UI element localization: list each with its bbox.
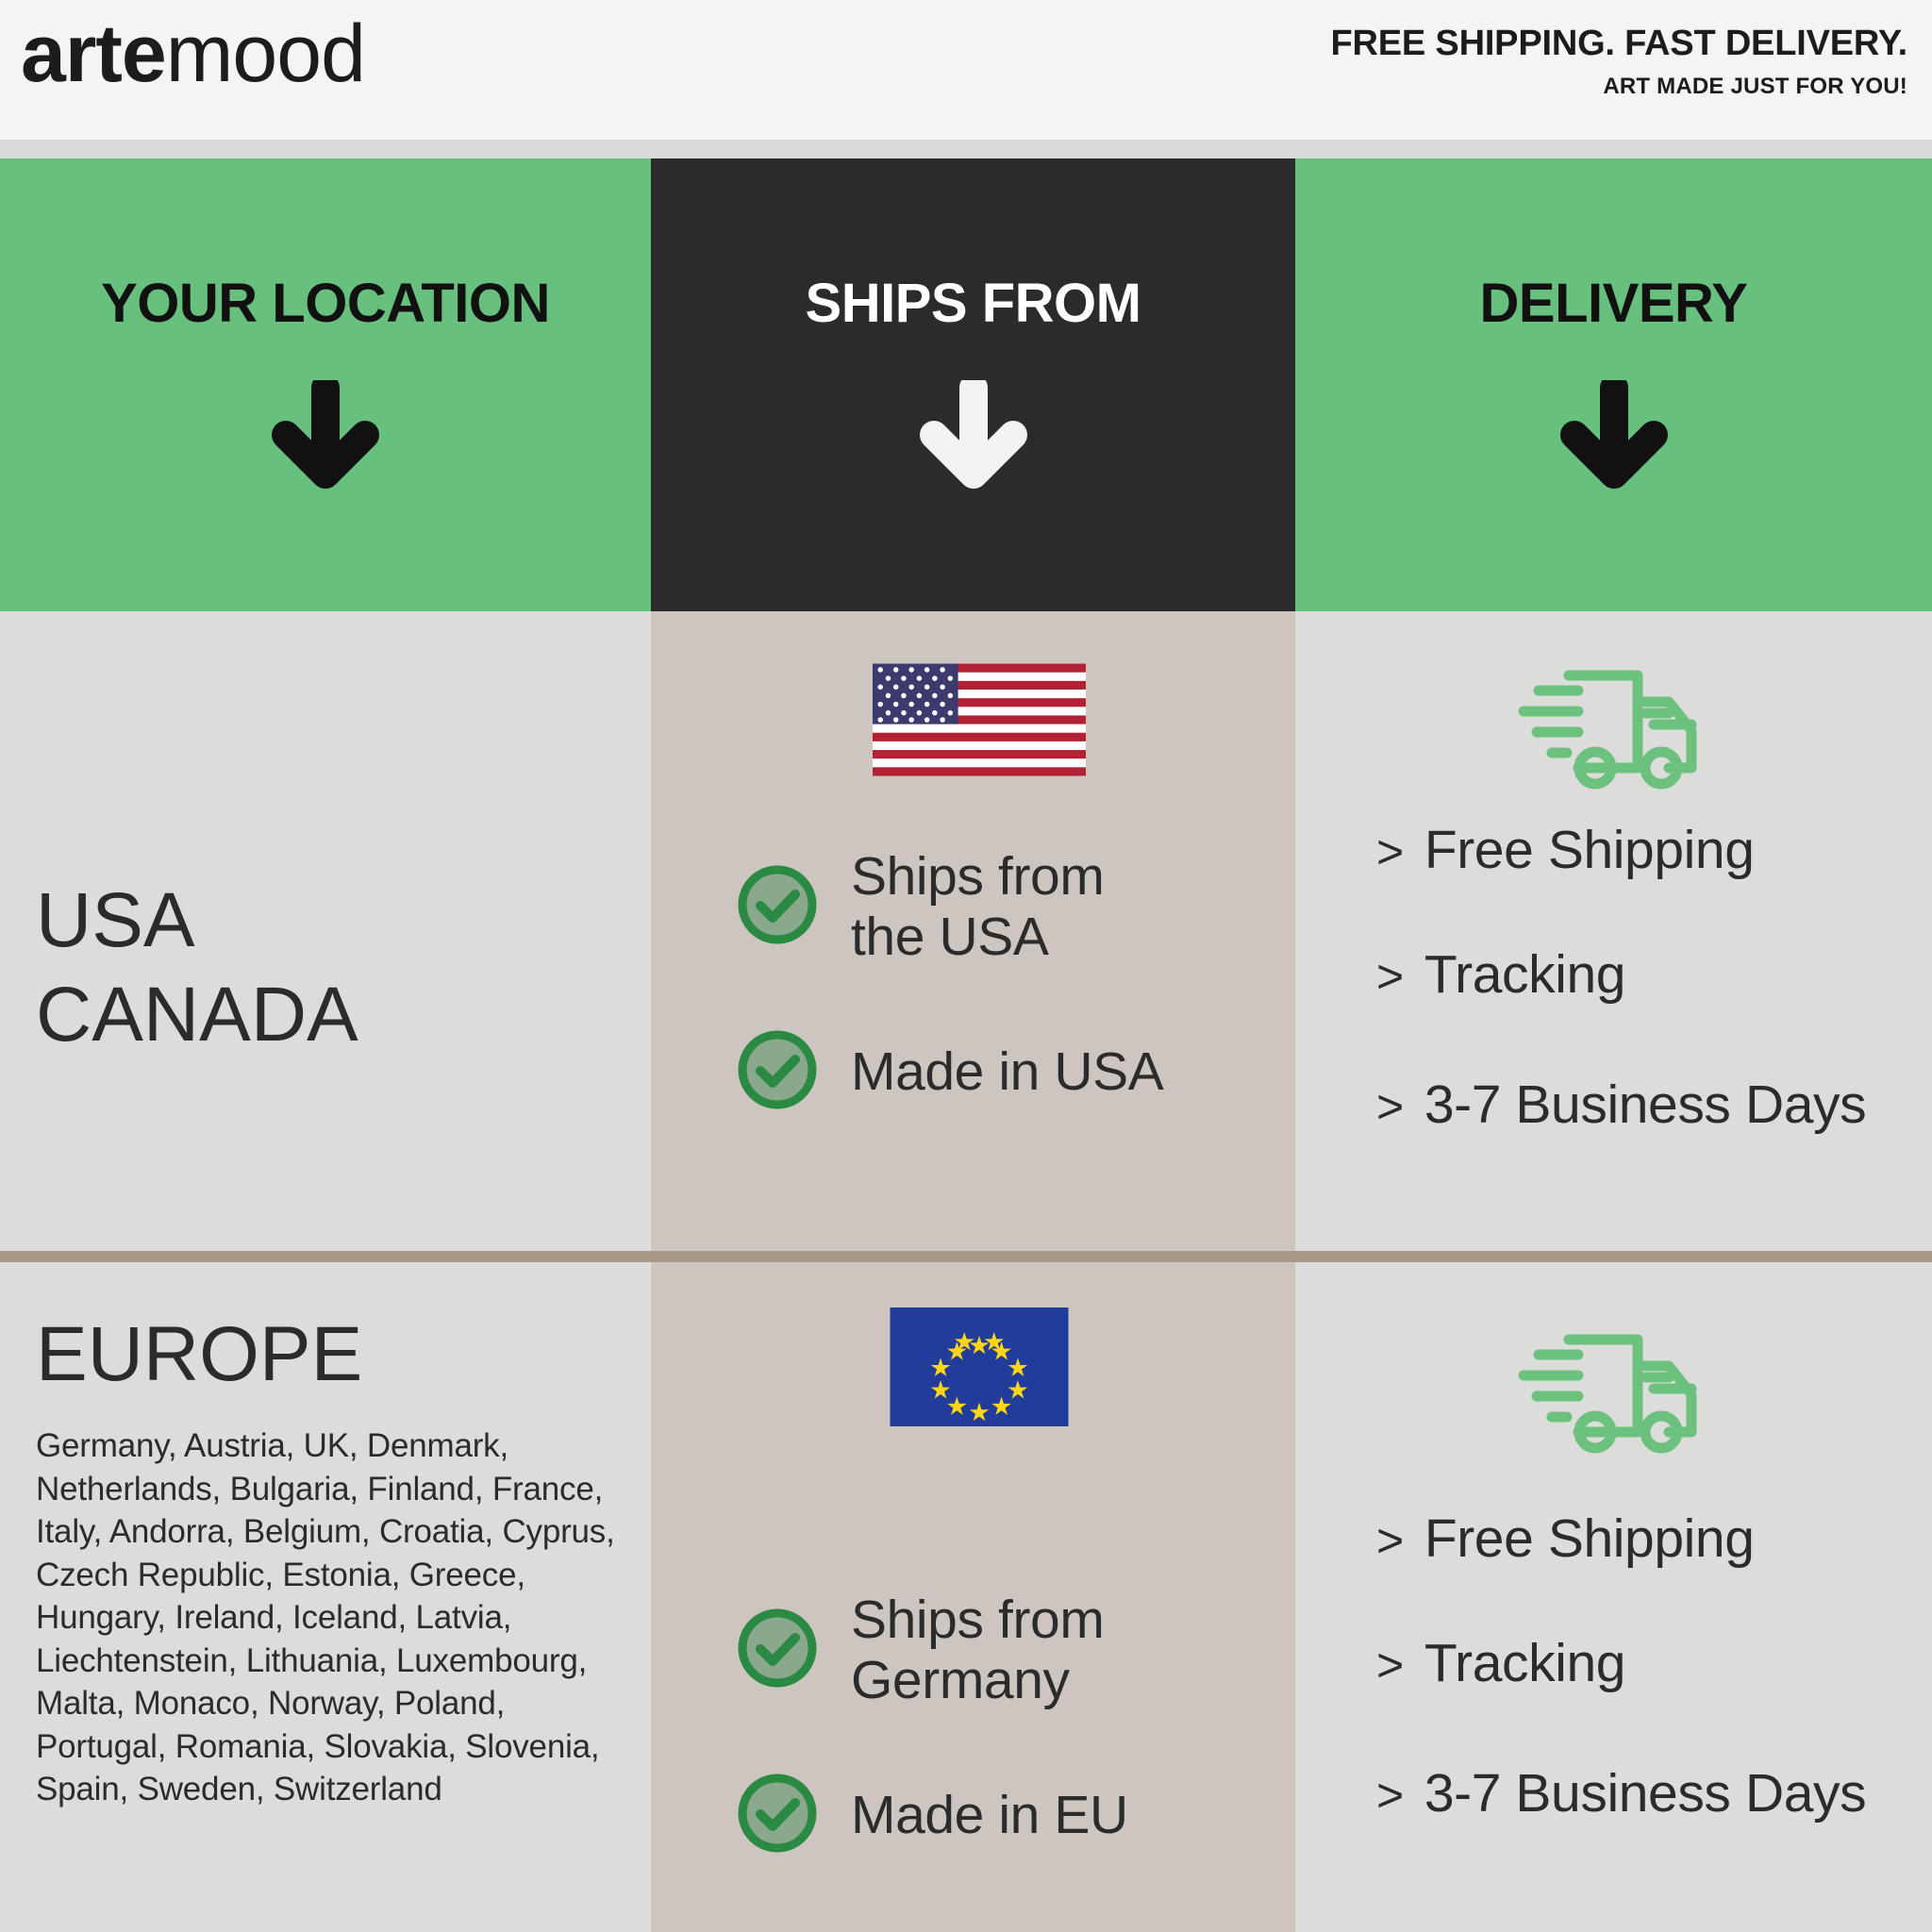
ships-from-check-row: Made in EU: [734, 1770, 1128, 1861]
delivery-bullet: > Free Shipping: [1376, 819, 1755, 881]
ships-from-check-row: Ships from the USA: [734, 847, 1104, 968]
chevron-right-icon: >: [1376, 1079, 1404, 1134]
check-circle-icon: [734, 1026, 821, 1118]
location-heading-line2: CANADA: [36, 968, 358, 1062]
tagline-secondary: ART MADE JUST FOR YOU!: [1331, 74, 1907, 100]
delivery-bullet-label: Tracking: [1424, 1632, 1625, 1694]
delivery-bullet: > 3-7 Business Days: [1376, 1074, 1866, 1136]
made-in-label: Made in EU: [851, 1786, 1128, 1846]
check-circle-icon: [734, 861, 821, 953]
logo-bold-part: arte: [21, 8, 166, 99]
column-title-delivery: DELIVERY: [1480, 272, 1748, 335]
row-usa-ships-from-cell: Ships from the USA Made in USA: [651, 611, 1295, 1251]
delivery-bullet-label: Free Shipping: [1424, 819, 1755, 881]
made-in-label: Made in USA: [851, 1042, 1163, 1103]
check-circle-icon: [734, 1605, 821, 1696]
delivery-bullet: > 3-7 Business Days: [1376, 1762, 1866, 1824]
tagline-block: FREE SHIPPING. FAST DELIVERY. ART MADE J…: [1331, 25, 1907, 100]
delivery-bullet-label: Tracking: [1424, 943, 1625, 1006]
delivery-bullet-label: 3-7 Business Days: [1424, 1074, 1866, 1136]
delivery-bullet-label: Free Shipping: [1424, 1507, 1755, 1570]
chevron-right-icon: >: [1376, 1638, 1404, 1692]
ships-from-check-row: Ships from Germany: [734, 1591, 1104, 1711]
row-usa-delivery-cell: > Free Shipping > Tracking > 3-7 Busines…: [1295, 611, 1932, 1251]
ships-from-label: Ships from Germany: [851, 1591, 1104, 1711]
ships-from-label: Ships from the USA: [851, 847, 1104, 968]
column-header-your-location: YOUR LOCATION: [0, 158, 651, 611]
delivery-truck-icon: [1510, 1321, 1718, 1467]
delivery-truck-icon: [1510, 657, 1718, 803]
delivery-bullet: > Free Shipping: [1376, 1507, 1755, 1570]
column-title-your-location: YOUR LOCATION: [101, 272, 550, 335]
tagline-primary: FREE SHIPPING. FAST DELIVERY.: [1331, 25, 1907, 64]
usa-flag-icon: [873, 660, 1086, 779]
chevron-right-icon: >: [1376, 824, 1404, 879]
ships-from-check-row: Made in USA: [734, 1026, 1163, 1118]
column-header-delivery: DELIVERY: [1295, 158, 1932, 611]
chevron-right-icon: >: [1376, 1768, 1404, 1823]
delivery-bullet: > Tracking: [1376, 943, 1625, 1006]
shipping-info-page: artemood FREE SHIPPING. FAST DELIVERY. A…: [0, 0, 1932, 1932]
column-title-ships-from: SHIPS FROM: [806, 272, 1141, 335]
location-heading-usa: USA CANADA: [36, 874, 358, 1062]
delivery-bullet-label: 3-7 Business Days: [1424, 1762, 1866, 1824]
location-heading-line1: USA: [36, 874, 358, 968]
brand-header: artemood FREE SHIPPING. FAST DELIVERY. A…: [0, 0, 1932, 140]
artemood-logo[interactable]: artemood: [21, 13, 365, 94]
arrow-down-icon: [1557, 380, 1671, 496]
logo-light-part: mood: [166, 8, 365, 99]
row-usa-location-cell: USA CANADA: [0, 611, 651, 1251]
chevron-right-icon: >: [1376, 949, 1404, 1004]
row-divider: [0, 1251, 1932, 1262]
check-circle-icon: [734, 1770, 821, 1861]
row-europe-ships-from-cell: Ships from Germany Made in EU: [651, 1262, 1295, 1932]
location-heading-line1: EUROPE: [36, 1307, 362, 1402]
column-header-ships-from: SHIPS FROM: [651, 158, 1295, 611]
row-europe-location-cell: EUROPE Germany, Austria, UK, Denmark, Ne…: [0, 1262, 651, 1932]
row-europe-delivery-cell: > Free Shipping > Tracking > 3-7 Busines…: [1295, 1262, 1932, 1932]
location-heading-europe: EUROPE: [36, 1307, 362, 1402]
eu-flag-icon: [873, 1307, 1086, 1426]
column-header-band: YOUR LOCATION SHIPS FROM DELIVERY: [0, 158, 1932, 611]
arrow-down-icon: [917, 380, 1030, 496]
delivery-bullet: > Tracking: [1376, 1632, 1625, 1694]
chevron-right-icon: >: [1376, 1513, 1404, 1568]
arrow-down-icon: [269, 380, 382, 496]
europe-country-list: Germany, Austria, UK, Denmark, Netherlan…: [36, 1424, 630, 1811]
header-divider: [0, 140, 1932, 158]
